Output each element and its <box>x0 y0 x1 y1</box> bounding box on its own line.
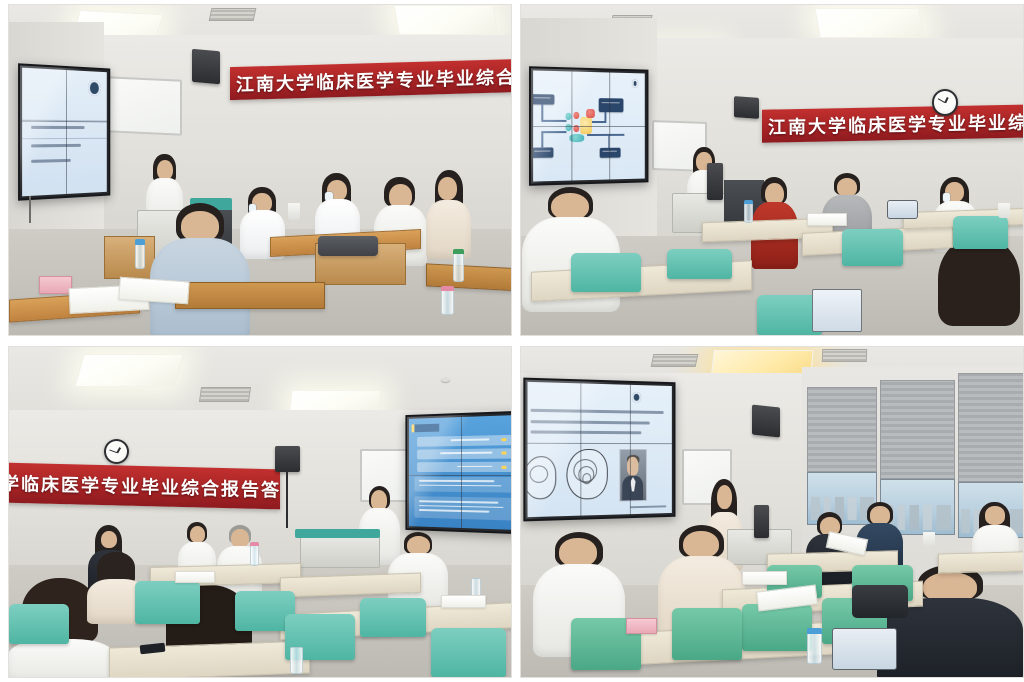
university-seal-icon <box>632 79 638 88</box>
chair <box>431 628 506 678</box>
torso <box>9 639 115 677</box>
classroom-scene-bottom-left: 学临床医学专业毕业综合报告答辩会 <box>9 347 511 677</box>
diagram-cell <box>586 108 595 118</box>
backpack <box>852 585 907 618</box>
tv-panel-seam <box>533 125 645 126</box>
paper-document <box>742 571 787 584</box>
chair <box>9 604 69 644</box>
slide-text-line <box>31 126 84 129</box>
name-card <box>39 276 72 294</box>
tv-screen <box>527 382 671 517</box>
ceiling-vent <box>208 8 256 21</box>
chair <box>672 608 742 661</box>
roller-blind[interactable] <box>880 380 955 479</box>
tv-screen <box>22 68 107 197</box>
lectern <box>300 535 380 568</box>
torso <box>426 200 471 259</box>
head <box>559 538 597 567</box>
brain-fold <box>581 473 590 484</box>
wall-speaker <box>192 48 220 83</box>
wooden-table-front <box>175 282 326 308</box>
tv-screen <box>533 70 645 181</box>
table <box>938 550 1023 573</box>
paper-document <box>175 571 215 583</box>
tv-panel-seam <box>630 385 631 514</box>
tv-panel-seam <box>580 383 581 515</box>
wood-cabinet <box>104 236 154 279</box>
name-card <box>626 618 656 635</box>
ceiling-light <box>393 5 499 35</box>
bottle-cap <box>135 239 145 244</box>
classroom-scene-bottom-right <box>521 347 1023 677</box>
floor-speaker <box>707 163 723 199</box>
timeline-marker <box>501 466 506 469</box>
scientist-portrait <box>618 449 646 501</box>
university-seal-icon <box>88 80 100 96</box>
ceiling-vent <box>822 349 868 362</box>
head <box>683 531 718 558</box>
slide-title-block <box>412 423 439 432</box>
timeline-row <box>417 462 511 472</box>
video-wall-timeline[interactable] <box>405 411 511 534</box>
bottle-cap <box>453 249 464 254</box>
roller-blind[interactable] <box>807 387 877 473</box>
flow-connector <box>587 134 624 136</box>
banner-text: 江南大学临床医学专业毕业综合报 <box>230 62 511 97</box>
wall-tv-left[interactable] <box>18 63 110 200</box>
timeline-marker <box>501 438 506 441</box>
panel-top-left[interactable]: 江南大学临床医学专业毕业综合报 <box>8 4 512 336</box>
flow-connector <box>541 131 543 149</box>
video-wall-brain[interactable] <box>523 378 675 521</box>
head <box>985 506 1005 524</box>
wall-speaker <box>752 405 780 438</box>
flow-node <box>533 93 554 104</box>
wall-speaker <box>734 97 759 120</box>
water-bottle <box>441 289 454 315</box>
whiteboard <box>107 76 182 136</box>
panel-top-right[interactable]: 江南大学临床医学专业毕业综合报 <box>520 4 1024 336</box>
paper-document <box>119 276 191 304</box>
head <box>870 506 890 524</box>
water-bottle <box>744 203 753 223</box>
tv-cable <box>29 196 31 222</box>
brain-diagram-coronal <box>527 456 556 499</box>
chair <box>571 253 641 293</box>
smoke-detector-icon <box>441 377 450 382</box>
tv-panel-seam <box>461 417 462 528</box>
flow-node <box>598 98 623 112</box>
chair <box>135 581 200 624</box>
speaker-pole <box>286 472 288 528</box>
bottle-cap <box>744 200 753 204</box>
panel-bottom-left[interactable]: 学临床医学专业毕业综合报告答辩会 <box>8 346 512 678</box>
chair <box>360 598 425 638</box>
hair <box>938 236 1020 326</box>
photo-collage: 江南大学临床医学专业毕业综合报 <box>0 0 1024 682</box>
bottle-cap <box>441 286 454 291</box>
classroom-scene-top-left: 江南大学临床医学专业毕业综合报 <box>9 5 511 335</box>
diagram-cell <box>565 123 571 131</box>
ceiling-vent <box>650 354 698 367</box>
water-bottle <box>135 243 145 269</box>
tablet <box>887 200 917 220</box>
flow-node <box>533 147 553 157</box>
head <box>717 485 732 509</box>
tv-screen <box>409 415 511 530</box>
attendee <box>426 170 471 259</box>
panel-bottom-right[interactable] <box>520 346 1024 678</box>
floor-speaker <box>754 505 769 538</box>
brain-fold <box>529 465 548 483</box>
cup <box>923 532 935 547</box>
banner-text: 江南大学临床医学专业毕业综合报 <box>762 108 1023 140</box>
cup <box>288 203 300 220</box>
chair <box>742 604 812 650</box>
head <box>438 177 457 200</box>
tv-panel-seam <box>409 475 511 476</box>
water-bottle <box>250 545 259 566</box>
cup <box>998 203 1010 218</box>
head <box>190 526 205 543</box>
diagram-cell <box>565 112 571 120</box>
classroom-scene-top-right: 江南大学临床医学专业毕业综合报 <box>521 5 1023 335</box>
chair <box>318 236 378 256</box>
diagram-cell <box>573 111 579 119</box>
event-banner: 江南大学临床医学专业毕业综合报 <box>762 105 1023 143</box>
water-bottle <box>290 647 303 673</box>
head <box>407 536 430 555</box>
ceiling-light <box>75 354 185 387</box>
head <box>231 529 249 548</box>
paper-document <box>807 213 847 226</box>
paper-document <box>441 595 486 608</box>
wall-speaker <box>275 446 300 472</box>
flow-connector <box>541 104 543 119</box>
roller-blind[interactable] <box>958 373 1023 482</box>
wall-clock <box>932 89 958 115</box>
chair <box>842 229 902 265</box>
laptop-screen <box>812 289 862 332</box>
clock-hand-minute <box>109 449 117 453</box>
chair <box>953 216 1008 249</box>
clock-hand-minute <box>937 98 945 103</box>
banner-text: 学临床医学专业毕业综合报告答辩会 <box>9 469 280 503</box>
lectern-top <box>295 529 380 539</box>
ceiling-light <box>815 8 926 38</box>
university-seal-icon <box>631 391 641 403</box>
event-banner: 学临床医学专业毕业综合报告答辩会 <box>9 462 280 508</box>
video-wall-flowchart[interactable] <box>529 66 648 185</box>
water-bottle <box>453 253 464 283</box>
water-bottle <box>807 631 822 664</box>
bottle-cap <box>250 542 259 546</box>
flow-connector <box>541 120 566 122</box>
foreground-attendee-right <box>933 236 1023 335</box>
flow-connector <box>541 131 566 133</box>
tv-panel-seam <box>65 70 66 194</box>
ceiling-vent <box>199 387 251 402</box>
portrait-head <box>627 457 638 476</box>
brain-diagram-sagittal <box>566 449 607 499</box>
tablet[interactable] <box>832 628 897 671</box>
chair <box>667 249 732 279</box>
bottle-cap <box>807 628 822 635</box>
wooden-table-right <box>426 263 511 291</box>
foreground-judge <box>150 203 250 335</box>
